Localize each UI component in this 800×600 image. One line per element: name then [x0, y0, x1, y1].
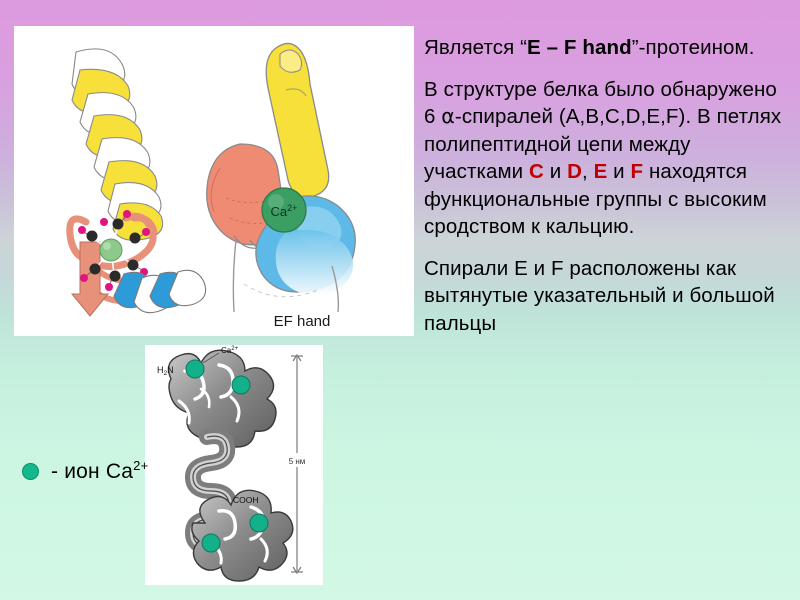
p1-tail: ”-протеином.	[632, 36, 755, 59]
slide-canvas: Ca2+ EF hand	[0, 0, 800, 600]
legend-label-superscript: 2+	[133, 458, 148, 473]
p2-seg4: ,	[582, 160, 594, 183]
figure-calmodulin-panel: H2N Ca2+ COOH 5 нм	[145, 345, 323, 585]
calmodulin-diagram: H2N Ca2+ COOH 5 нм	[145, 345, 323, 585]
helix-letter-d: D	[567, 160, 582, 183]
calcium-ion-sphere: Ca2+	[262, 188, 306, 232]
paragraph-2: В структуре белка было обнаружено 6 α-сп…	[424, 76, 790, 241]
legend-label: - ион Ca2+	[51, 458, 148, 484]
figure-ef-hand-panel: Ca2+ EF hand	[14, 26, 414, 336]
helix-letter-c: C	[529, 160, 544, 183]
ef-hand-diagram: Ca2+ EF hand	[14, 26, 414, 336]
legend-label-text: - ион Ca	[51, 460, 133, 483]
helix-letter-e: E	[594, 160, 608, 183]
figure-caption: EF hand	[274, 313, 331, 330]
c-terminus-label: COOH	[233, 495, 259, 505]
body-text-block: Является “E – F hand”-протеином. В струк…	[424, 34, 790, 337]
helix-letter-f: F	[631, 160, 644, 183]
p2-seg5: и	[607, 160, 630, 183]
scale-label: 5 нм	[289, 457, 306, 466]
p1-bold-term: E – F hand	[527, 36, 632, 59]
p1-lead: Является “	[424, 36, 527, 59]
alpha-symbol: α	[441, 104, 455, 128]
ca-ion-dot-icon	[22, 463, 39, 480]
paragraph-1: Является “E – F hand”-протеином.	[424, 34, 790, 62]
legend-ca-ion: - ион Ca2+	[22, 458, 148, 484]
paragraph-3: Спирали E и F расположены как вытянутые …	[424, 255, 790, 338]
p2-seg3: и	[544, 160, 567, 183]
